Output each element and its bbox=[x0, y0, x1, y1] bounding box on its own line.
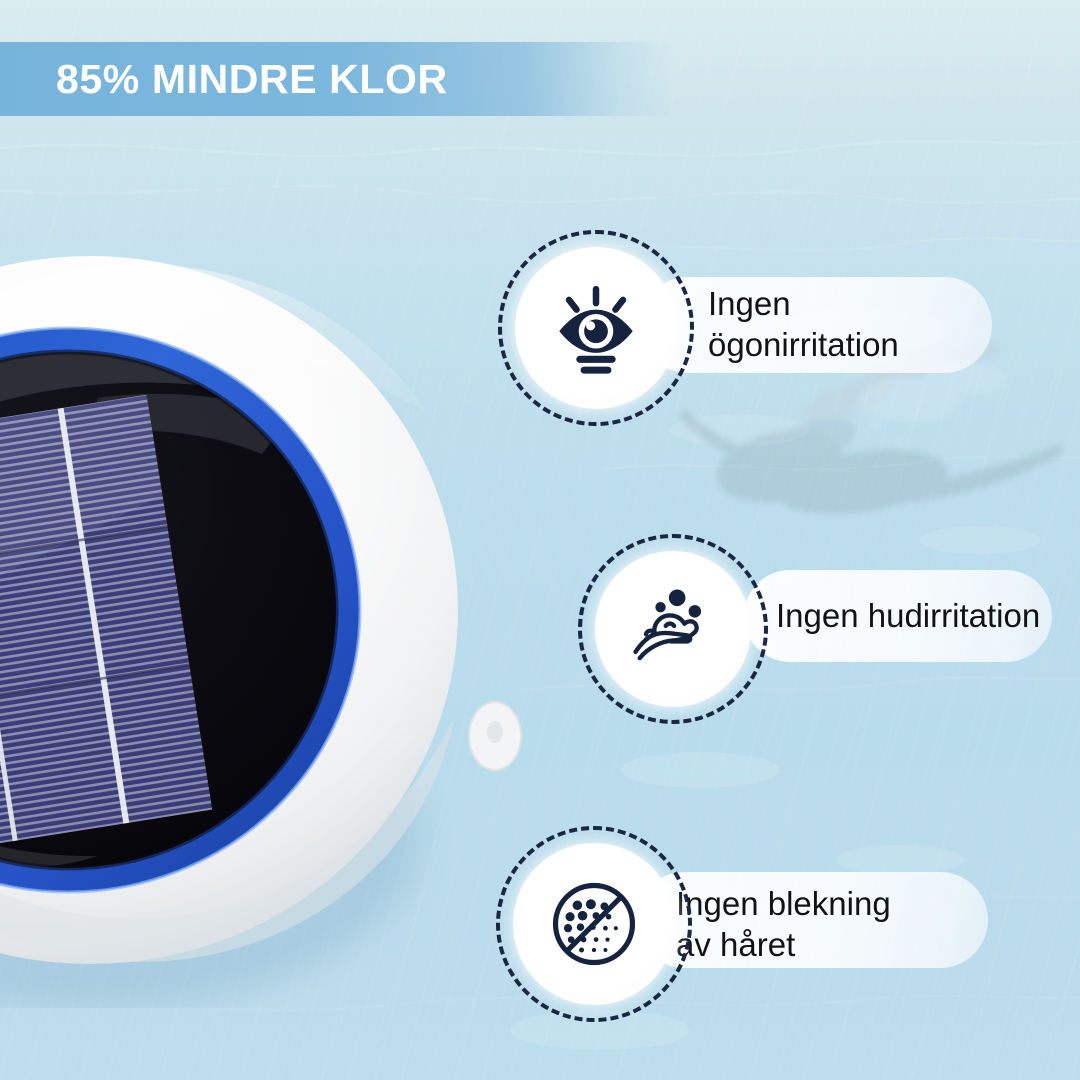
feature-label-2: Ingen hudirritation bbox=[776, 596, 1040, 637]
feature-icon-badge-1 bbox=[498, 230, 694, 426]
feature-pill-2: Ingen hudirritation bbox=[744, 570, 1052, 662]
promo-image-canvas: 85% MINDRE KLOR Ingen ögonirritation bbox=[0, 0, 1080, 1080]
headline-banner: 85% MINDRE KLOR bbox=[0, 42, 672, 116]
hand-soap-skin-icon bbox=[621, 577, 725, 681]
feature-icon-disc-2 bbox=[595, 551, 752, 708]
banner-headline-text: 85% MINDRE KLOR bbox=[56, 59, 448, 100]
feature-icon-disc-1 bbox=[515, 247, 677, 409]
feature-label-1: Ingen ögonirritation bbox=[708, 284, 899, 366]
no-bleach-dots-icon bbox=[542, 872, 646, 976]
feature-icon-badge-2 bbox=[578, 534, 768, 724]
feature-label-3: Ingen blekning av håret bbox=[676, 884, 1036, 966]
eye-no-irritation-icon bbox=[542, 274, 650, 382]
feature-icon-badge-3 bbox=[496, 826, 692, 1022]
feature-icon-disc-3 bbox=[513, 843, 675, 1005]
